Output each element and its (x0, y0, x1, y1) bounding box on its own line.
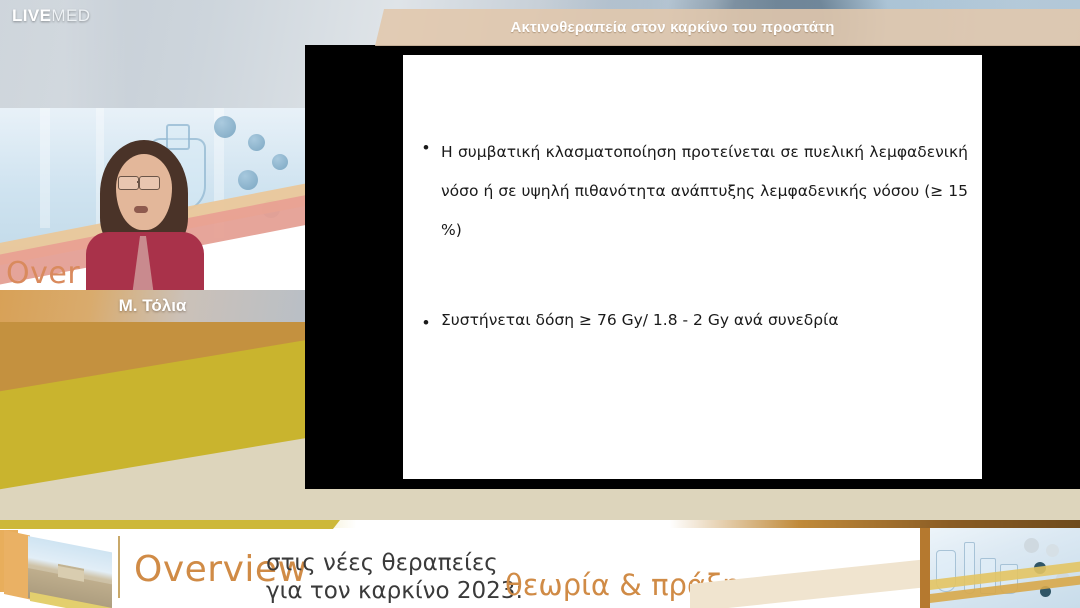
bullet-marker-icon: • (423, 308, 441, 338)
presentation-slide[interactable]: • Η συμβατική κλασματοποίηση προτείνεται… (403, 55, 982, 479)
slide-bullet-item: • Συστήνεται δόση ≥ 76 Gy/ 1.8 - 2 Gy αν… (423, 308, 968, 338)
speaker-mouth (134, 206, 148, 213)
slide-content: • Η συμβατική κλασματοποίηση προτείνεται… (423, 133, 968, 358)
speaker-nameplate: Μ. Τόλια (0, 290, 305, 322)
broadcast-player: LIVEMED Ακτινοθεραπεία στον καρκίνο του … (0, 0, 1080, 608)
session-title-bar: Ακτινοθεραπεία στον καρκίνο του προστάτη (375, 9, 1080, 46)
webcam-backdrop-overview-text: Over (6, 256, 80, 290)
speaker-figure (84, 140, 204, 290)
backdrop-molecule-icon (248, 134, 265, 151)
event-banner: Overview στις νέες θεραπείες για τον καρ… (0, 520, 1080, 608)
livemed-logo: LIVEMED (12, 6, 90, 26)
slide-bullet-text: Η συμβατική κλασματοποίηση προτείνεται σ… (441, 133, 968, 288)
bullet-marker-icon: • (423, 133, 441, 163)
backdrop-stripe (40, 108, 50, 228)
molecule-node-icon (1024, 538, 1039, 553)
backdrop-molecule-icon (214, 116, 236, 138)
slide-bullet-item: • Η συμβατική κλασματοποίηση προτείνεται… (423, 133, 968, 288)
banner-top-wedge (0, 520, 340, 529)
banner-left-wedge (4, 530, 30, 600)
slide-bullet-text: Συστήνεται δόση ≥ 76 Gy/ 1.8 - 2 Gy ανά … (441, 308, 968, 333)
speaker-face (116, 154, 172, 230)
logo-live-text: LIVE (12, 6, 51, 25)
event-subtitle-line-1: στις νέες θεραπείες (266, 550, 498, 576)
session-title: Ακτινοθεραπεία στον καρκίνο του προστάτη (510, 19, 944, 36)
logo-med-text: MED (51, 6, 90, 25)
backdrop-molecule-icon (238, 170, 258, 190)
backdrop-molecule-icon (272, 154, 288, 170)
eyeglasses-left-icon (118, 176, 139, 190)
banner-cream-wedge (690, 558, 940, 608)
banner-lab-edge (920, 528, 930, 608)
slide-letterbox: • Η συμβατική κλασματοποίηση προτείνεται… (305, 45, 1080, 489)
banner-divider (118, 536, 120, 598)
molecule-node-icon (1046, 544, 1059, 557)
speaker-webcam[interactable]: Over (0, 108, 305, 290)
lab-test-tube-icon (964, 542, 975, 594)
speaker-name: Μ. Τόλια (119, 296, 187, 316)
eyeglasses-right-icon (139, 176, 160, 190)
event-subtitle-line-2: για τον καρκίνο 2023: (266, 578, 523, 604)
eyeglasses-bridge-icon (137, 181, 140, 183)
